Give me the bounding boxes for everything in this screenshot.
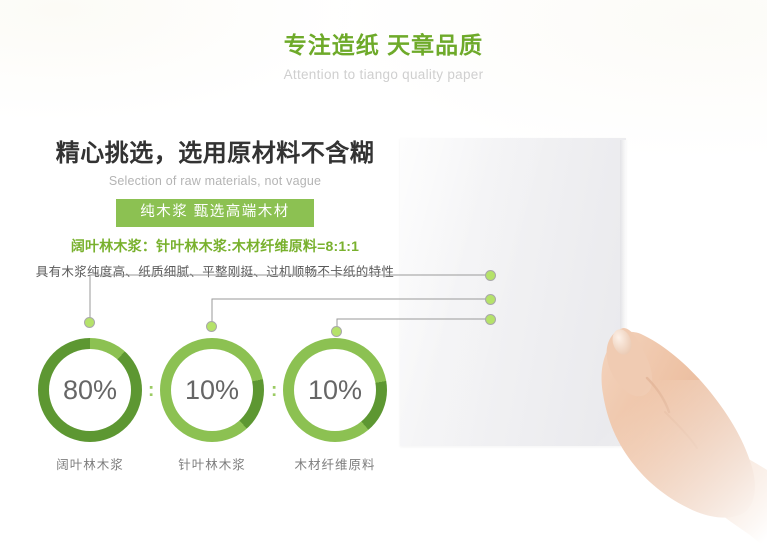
content-block: 精心挑选，选用原材料不含糊 Selection of raw materials… [0,138,430,281]
ratio-separator-2: : [271,380,277,402]
header-subtitle: Attention to tiango quality paper [0,66,767,84]
header: 专注造纸 天章品质 Attention to tiango quality pa… [0,30,767,84]
hand-fade [565,380,767,549]
ring-label-1: 阔叶林木浆 [35,457,145,474]
hand-holding-paper [565,320,767,549]
connector-dot-left-2 [206,321,217,332]
ring-percent-2: 10% [185,376,239,404]
ratio-separator-1: : [148,380,154,402]
ring-percent-3: 10% [308,376,362,404]
section-heading-en: Selection of raw materials, not vague [0,173,430,190]
header-title: 专注造纸 天章品质 [0,30,767,60]
ring-label-3: 木材纤维原料 [280,457,390,474]
ring-percent-1: 80% [63,376,117,404]
donut-ring-3: 10% [283,338,387,442]
donut-ring-2: 10% [160,338,264,442]
ratio-formula: 阔叶林木浆：针叶林木浆:木材纤维原料=8:1:1 [0,237,430,256]
donut-ring-1: 80% [38,338,142,442]
connector-dot-left-1 [84,317,95,328]
donut-center-2: 10% [171,349,253,431]
ring-item-2: 10% 针叶林木浆 [157,338,267,474]
donut-center-1: 80% [49,349,131,431]
section-heading-cn: 精心挑选，选用原材料不含糊 [0,138,430,170]
connector-dot-left-3 [331,326,342,337]
ring-item-1: 80% 阔叶林木浆 [35,338,145,474]
feature-description: 具有木浆纯度高、纸质细腻、平整刚挺、过机顺畅不卡纸的特性 [0,263,430,281]
promo-banner: 专注造纸 天章品质 Attention to tiango quality pa… [0,0,767,549]
connector-dot-paper-3 [485,314,496,325]
pill-container: 纯木浆 甄选高端木材 [0,199,430,227]
ring-item-3: 10% 木材纤维原料 [280,338,390,474]
donut-center-3: 10% [294,349,376,431]
ring-label-2: 针叶林木浆 [157,457,267,474]
ratio-rings: 80% 阔叶林木浆 : 10% 针叶林木浆 : 10% 木材纤维原料 [0,338,430,488]
connector-dot-paper-2 [485,294,496,305]
highlight-badge: 纯木浆 甄选高端木材 [116,199,314,227]
connector-dot-paper-1 [485,270,496,281]
